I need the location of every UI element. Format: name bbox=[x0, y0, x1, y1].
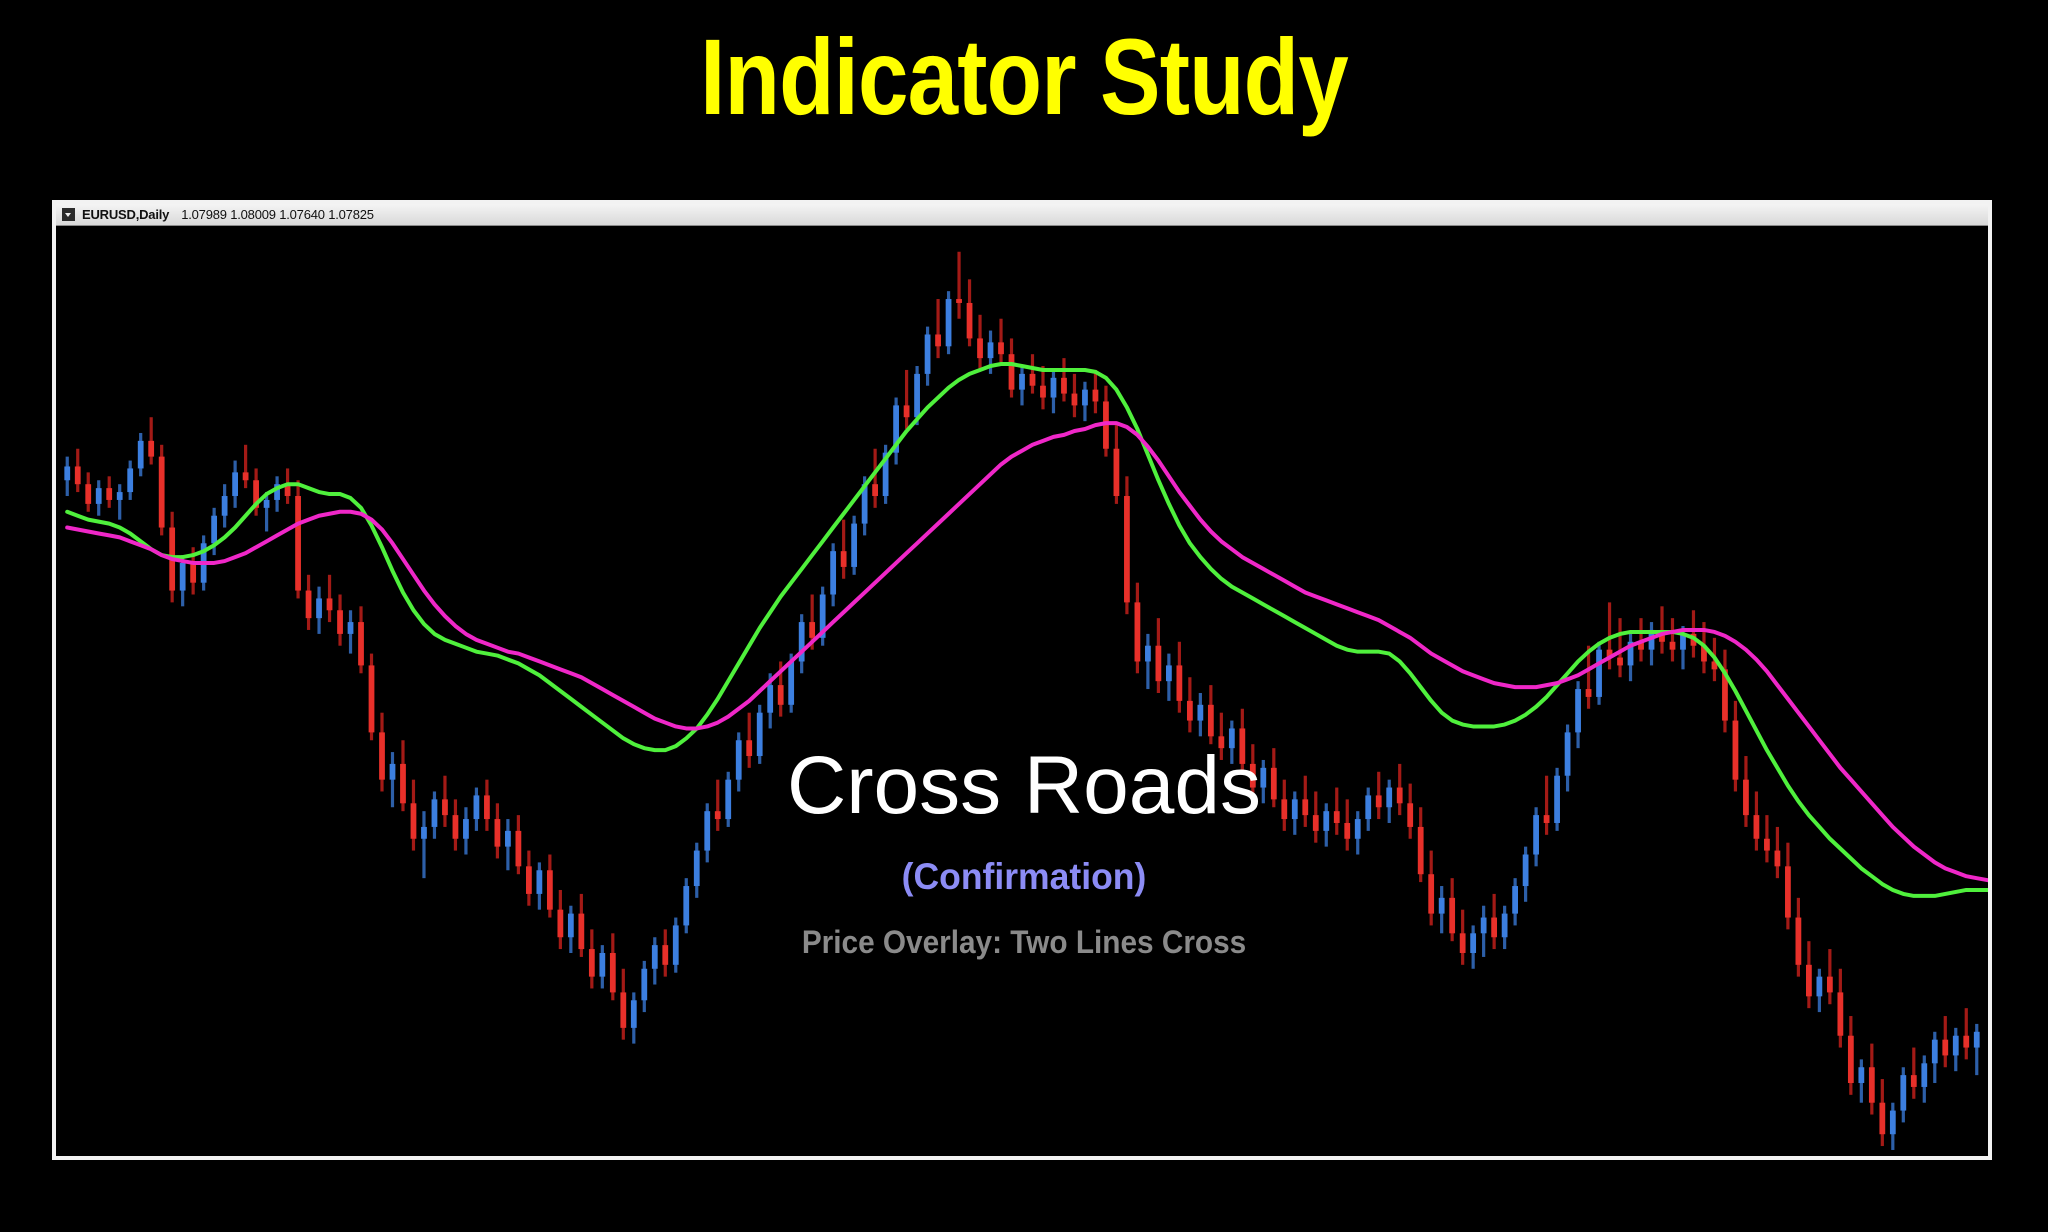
chevron-down-icon[interactable] bbox=[62, 208, 75, 221]
chart-window: EURUSD,Daily 1.07989 1.08009 1.07640 1.0… bbox=[52, 200, 1992, 1160]
candles-group bbox=[64, 252, 1979, 1150]
ma-lines-group bbox=[67, 364, 1988, 896]
chart-plot-area[interactable] bbox=[56, 226, 1988, 1156]
chart-ohlc-values: 1.07989 1.08009 1.07640 1.07825 bbox=[181, 207, 374, 222]
chart-titlebar[interactable]: EURUSD,Daily 1.07989 1.08009 1.07640 1.0… bbox=[56, 204, 1988, 226]
candlestick-chart bbox=[56, 226, 1988, 1156]
chart-symbol-label: EURUSD,Daily bbox=[82, 207, 169, 222]
page-title: Indicator Study bbox=[164, 18, 1884, 136]
